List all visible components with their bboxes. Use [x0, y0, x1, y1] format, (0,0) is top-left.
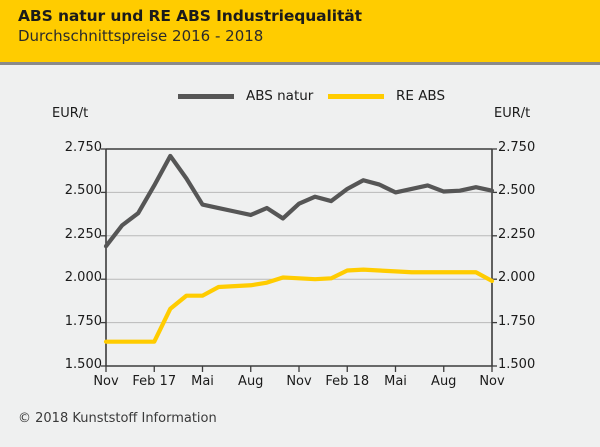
legend-label-abs-natur: ABS natur [246, 88, 313, 104]
y-axis-tick-label-left: 2.250 [44, 227, 102, 242]
y-axis-tick-label-right: 1.750 [498, 314, 556, 329]
copyright-footer: © 2018 Kunststoff Information [18, 411, 217, 426]
x-axis-tick-label: Mai [384, 374, 407, 389]
y-axis-tick-label-right: 2.750 [498, 140, 556, 155]
x-axis-tick-label: Nov [93, 374, 118, 389]
legend-label-re-abs: RE ABS [396, 88, 445, 104]
x-axis-tick-label: Aug [238, 374, 263, 389]
y-axis-tick-label-left: 1.750 [44, 314, 102, 329]
y-axis-tick-label-right: 2.500 [498, 183, 556, 198]
chart-legend: ABS natur RE ABS [0, 88, 600, 108]
page-title: ABS natur und RE ABS Industriequalität [18, 6, 600, 26]
series-line-re-abs [106, 270, 492, 342]
x-axis-tick-label: Nov [479, 374, 504, 389]
y-axis-tick-label-right: 1.500 [498, 357, 556, 372]
header-divider [0, 62, 600, 65]
legend-swatch-icon-re-abs [328, 94, 384, 99]
page-subtitle: Durchschnittspreise 2016 - 2018 [18, 26, 600, 47]
x-axis-tick-label: Feb 18 [325, 374, 369, 389]
y-axis-tick-label-left: 2.500 [44, 183, 102, 198]
series-line-abs-natur [106, 156, 492, 246]
legend-item-re-abs: RE ABS [328, 88, 445, 104]
y-axis-unit-left: EUR/t [52, 106, 88, 121]
y-axis-tick-label-left: 2.000 [44, 270, 102, 285]
x-axis-tick-label: Feb 17 [132, 374, 176, 389]
plot-background [106, 149, 492, 366]
y-axis-tick-label-left: 1.500 [44, 357, 102, 372]
y-axis-tick-label-left: 2.750 [44, 140, 102, 155]
legend-swatch-icon-abs-natur [178, 94, 234, 99]
legend-item-abs-natur: ABS natur [178, 88, 313, 104]
x-axis-tick-label: Mai [191, 374, 214, 389]
y-axis-tick-label-right: 2.250 [498, 227, 556, 242]
y-axis-tick-label-right: 2.000 [498, 270, 556, 285]
x-axis-tick-label: Nov [286, 374, 311, 389]
y-axis-unit-right: EUR/t [494, 106, 530, 121]
x-axis-tick-label: Aug [431, 374, 456, 389]
chart-header-banner: ABS natur und RE ABS Industriequalität D… [0, 0, 600, 62]
